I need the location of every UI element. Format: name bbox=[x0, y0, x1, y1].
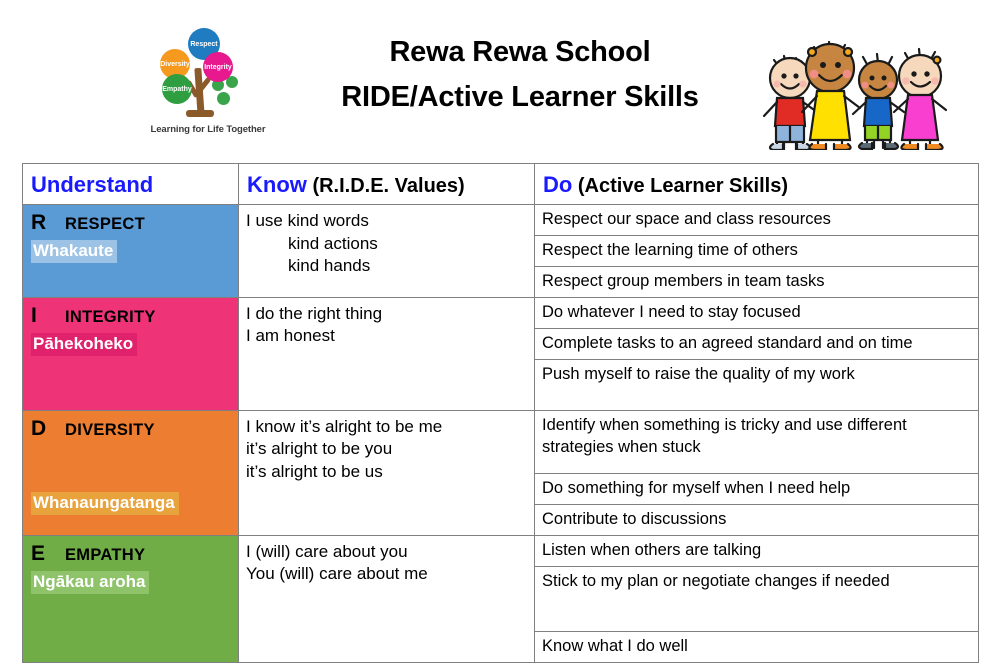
logo-bubble-integrity: Integrity bbox=[203, 52, 233, 82]
logo-tagline: Learning for Life Together bbox=[150, 124, 266, 135]
value-cell-diversity: DDIVERSITY Whanaungatanga bbox=[23, 410, 239, 535]
do-subtable-diversity: Identify when something is tricky and us… bbox=[535, 411, 978, 535]
value-word-empathy: EMPATHY bbox=[65, 546, 145, 564]
value-maori-empathy: Ngākau aroha bbox=[31, 571, 149, 594]
school-logo: Respect Diversity Integrity Empathy Lear… bbox=[150, 24, 266, 142]
value-letter-empathy: E bbox=[31, 542, 65, 566]
ride-values-table-container: Understand Know (R.I.D.E. Values) Do (Ac… bbox=[22, 163, 978, 663]
do-subtable-integrity: Do whatever I need to stay focused Compl… bbox=[535, 298, 978, 390]
know-line: kind actions bbox=[246, 233, 530, 256]
do-item: Stick to my plan or negotiate changes if… bbox=[535, 566, 978, 631]
page-title: Rewa Rewa School RIDE/Active Learner Ski… bbox=[300, 30, 740, 120]
value-maori-wrap-integrity: Pāhekoheko bbox=[31, 330, 238, 356]
do-cell-diversity: Identify when something is tricky and us… bbox=[535, 410, 979, 535]
value-letter-diversity: D bbox=[31, 417, 65, 441]
children-clipart-svg bbox=[760, 26, 950, 150]
column-header-do: Do (Active Learner Skills) bbox=[535, 164, 979, 205]
know-line: it’s alright to be us bbox=[246, 461, 530, 484]
value-maori-diversity: Whanaungatanga bbox=[31, 492, 179, 515]
table-row: DDIVERSITY Whanaungatanga I know it’s al… bbox=[23, 410, 979, 535]
value-cell-respect: RRESPECT Whakaute bbox=[23, 205, 239, 298]
column-header-do-rest: (Active Learner Skills) bbox=[572, 175, 788, 197]
logo-tree-icon: Respect Diversity Integrity Empathy bbox=[150, 24, 266, 122]
table-header-row: Understand Know (R.I.D.E. Values) Do (Ac… bbox=[23, 164, 979, 205]
do-item: Contribute to discussions bbox=[535, 504, 978, 534]
value-word-diversity: DIVERSITY bbox=[65, 421, 155, 439]
do-item: Respect the learning time of others bbox=[535, 235, 978, 266]
value-title-diversity: DDIVERSITY bbox=[31, 417, 238, 441]
do-item: Do whatever I need to stay focused bbox=[535, 298, 978, 328]
column-header-know-rest: (R.I.D.E. Values) bbox=[307, 175, 465, 197]
column-header-know: Know (R.I.D.E. Values) bbox=[239, 164, 535, 205]
page-header: Respect Diversity Integrity Empathy Lear… bbox=[0, 0, 1000, 157]
value-word-respect: RESPECT bbox=[65, 215, 145, 233]
four-children-illustration bbox=[760, 26, 950, 150]
know-line: kind hands bbox=[246, 255, 530, 278]
logo-bubble-empathy: Empathy bbox=[162, 74, 192, 104]
leaf-dot-icon bbox=[217, 92, 230, 105]
know-cell-empathy: I (will) care about you You (will) care … bbox=[239, 535, 535, 662]
ride-values-table: Understand Know (R.I.D.E. Values) Do (Ac… bbox=[22, 163, 979, 663]
do-item: Complete tasks to an agreed standard and… bbox=[535, 328, 978, 359]
know-line: I do the right thing bbox=[246, 303, 530, 326]
do-subtable-respect: Respect our space and class resources Re… bbox=[535, 205, 978, 297]
value-letter-respect: R bbox=[31, 211, 65, 235]
know-line: I know it’s alright to be me bbox=[246, 416, 530, 439]
value-title-integrity: IINTEGRITY bbox=[31, 304, 238, 328]
do-item: Push myself to raise the quality of my w… bbox=[535, 359, 978, 389]
do-item: Know what I do well bbox=[535, 631, 978, 661]
do-cell-integrity: Do whatever I need to stay focused Compl… bbox=[535, 297, 979, 410]
value-maori-wrap-empathy: Ngākau aroha bbox=[31, 568, 238, 594]
column-header-do-key: Do bbox=[543, 172, 572, 197]
know-cell-respect: I use kind words kind actions kind hands bbox=[239, 205, 535, 298]
value-letter-integrity: I bbox=[31, 304, 65, 328]
know-line: I use kind words bbox=[246, 210, 530, 233]
table-row: IINTEGRITY Pāhekoheko I do the right thi… bbox=[23, 297, 979, 410]
do-item: Listen when others are talking bbox=[535, 536, 978, 566]
value-word-integrity: INTEGRITY bbox=[65, 308, 156, 326]
value-cell-integrity: IINTEGRITY Pāhekoheko bbox=[23, 297, 239, 410]
do-item: Do something for myself when I need help bbox=[535, 473, 978, 504]
value-cell-empathy: EEMPATHY Ngākau aroha bbox=[23, 535, 239, 662]
value-maori-wrap-diversity: Whanaungatanga bbox=[31, 489, 238, 515]
title-line-school: Rewa Rewa School bbox=[300, 30, 740, 75]
table-row: EEMPATHY Ngākau aroha I (will) care abou… bbox=[23, 535, 979, 662]
know-cell-diversity: I know it’s alright to be me it’s alrigh… bbox=[239, 410, 535, 535]
value-maori-wrap-respect: Whakaute bbox=[31, 237, 238, 263]
value-maori-integrity: Pāhekoheko bbox=[31, 333, 137, 356]
value-maori-respect: Whakaute bbox=[31, 240, 117, 263]
do-item: Respect our space and class resources bbox=[535, 205, 978, 235]
do-cell-respect: Respect our space and class resources Re… bbox=[535, 205, 979, 298]
know-cell-integrity: I do the right thing I am honest bbox=[239, 297, 535, 410]
tree-root-shape bbox=[186, 110, 214, 117]
value-title-respect: RRESPECT bbox=[31, 211, 238, 235]
column-header-understand-key: Understand bbox=[31, 172, 153, 197]
column-header-know-key: Know bbox=[247, 172, 307, 197]
title-line-subject: RIDE/Active Learner Skills bbox=[300, 75, 740, 120]
table-row: RRESPECT Whakaute I use kind words kind … bbox=[23, 205, 979, 298]
know-line: You (will) care about me bbox=[246, 563, 530, 586]
do-item: Identify when something is tricky and us… bbox=[535, 411, 978, 474]
do-item: Respect group members in team tasks bbox=[535, 266, 978, 296]
do-cell-empathy: Listen when others are talking Stick to … bbox=[535, 535, 979, 662]
know-line: it’s alright to be you bbox=[246, 438, 530, 461]
do-subtable-empathy: Listen when others are talking Stick to … bbox=[535, 536, 978, 662]
value-title-empathy: EEMPATHY bbox=[31, 542, 238, 566]
column-header-understand: Understand bbox=[23, 164, 239, 205]
know-line: I (will) care about you bbox=[246, 541, 530, 564]
know-line: I am honest bbox=[246, 325, 530, 348]
